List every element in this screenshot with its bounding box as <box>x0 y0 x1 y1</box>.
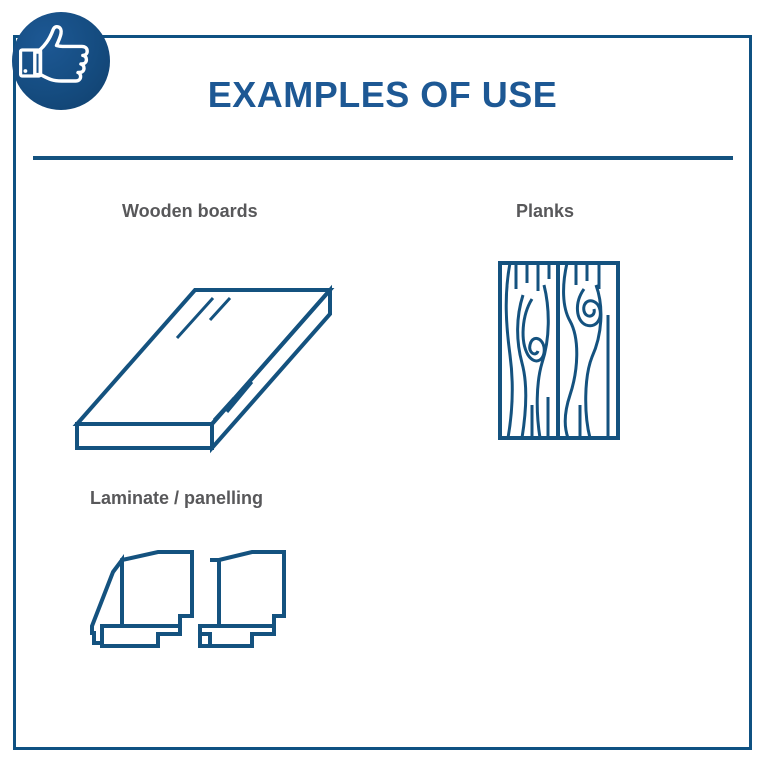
tongue-and-groove-profile-icon <box>84 538 299 688</box>
wooden-board-slab-icon <box>62 272 362 452</box>
section-label-planks: Planks <box>516 201 574 222</box>
poster-canvas: EXAMPLES OF USE Wooden boards Planks <box>0 0 768 768</box>
page-title: EXAMPLES OF USE <box>13 75 752 115</box>
section-label-wooden-boards: Wooden boards <box>122 201 258 222</box>
illustration-planks <box>492 255 632 450</box>
section-label-laminate-panelling: Laminate / panelling <box>90 488 263 509</box>
illustration-wooden-boards <box>62 272 362 452</box>
thumbs-up-badge <box>12 12 110 110</box>
wood-grain-planks-icon <box>492 255 632 450</box>
thumbs-up-icon <box>12 12 110 110</box>
title-divider <box>33 156 733 160</box>
illustration-laminate-panelling <box>84 538 299 688</box>
